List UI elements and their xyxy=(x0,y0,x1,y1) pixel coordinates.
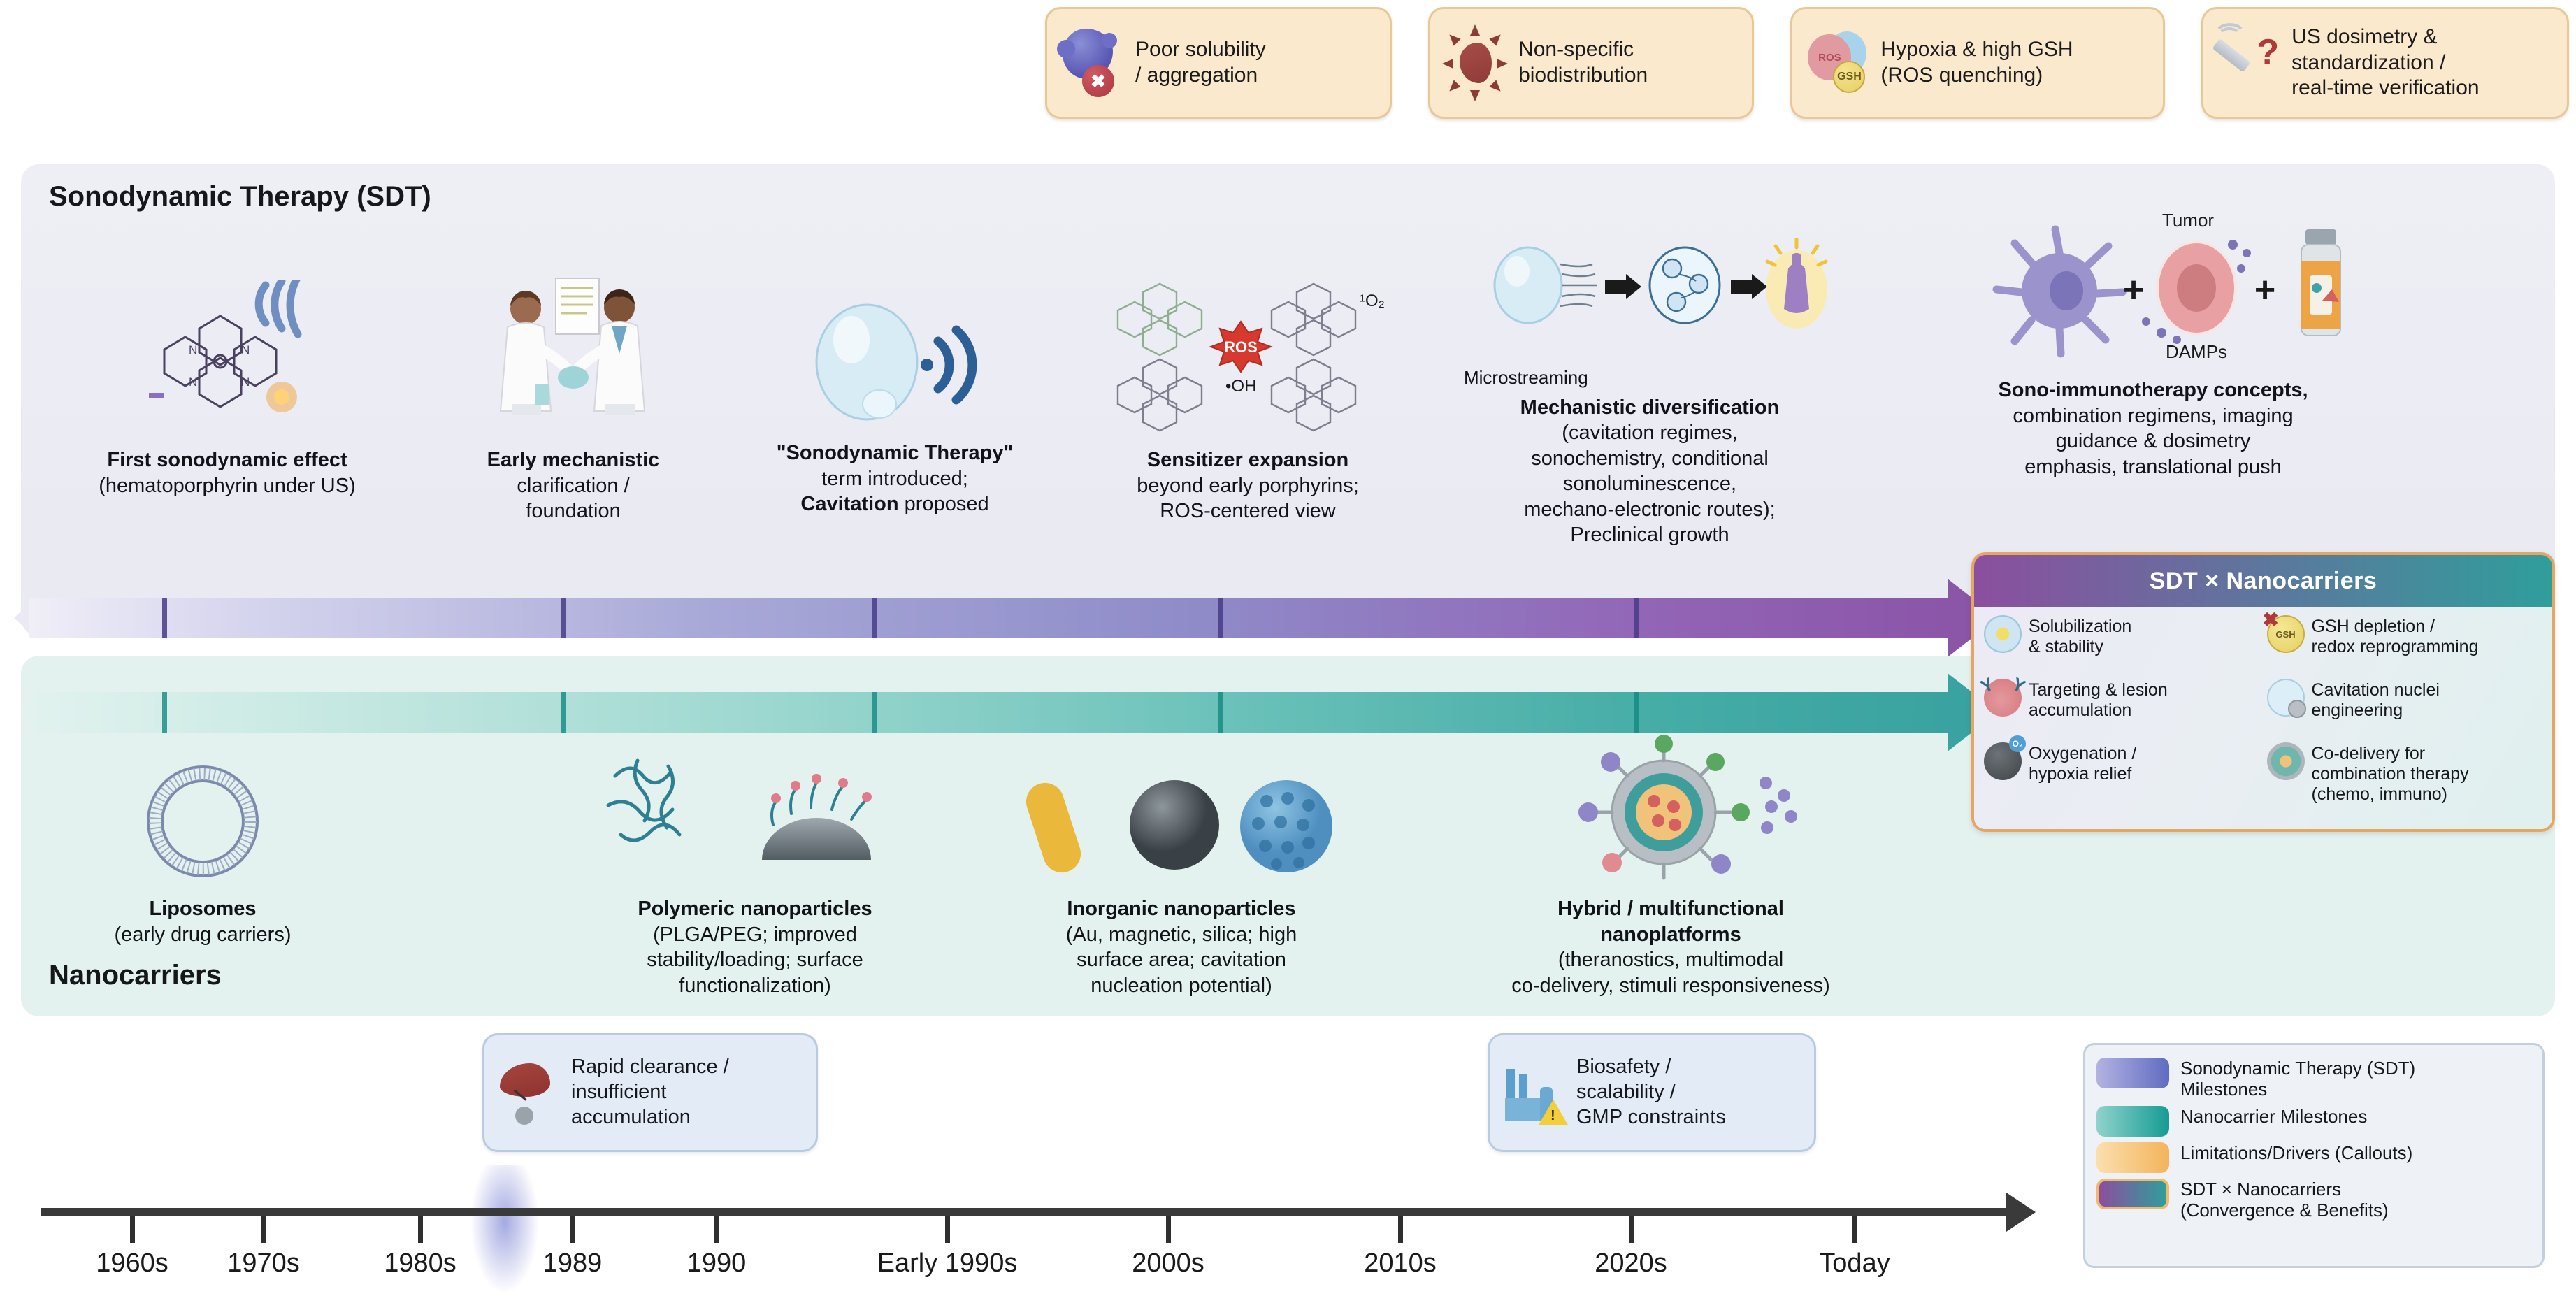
axis-label: 1980s xyxy=(384,1248,456,1279)
legend-swatch-limitations xyxy=(2096,1142,2169,1173)
legend-box: Sonodynamic Therapy (SDT)Milestones Nano… xyxy=(2083,1043,2545,1268)
factory-warning-icon xyxy=(1502,1059,1567,1126)
sdt-milestone-annotation: Microstreaming Mechanistic diversificati… xyxy=(1440,366,1859,548)
sdt-milestone-3[interactable]: "Sonodynamic Therapy"term introduced; Ca… xyxy=(727,280,1063,517)
axis-label: 2000s xyxy=(1132,1248,1204,1279)
axis-tick xyxy=(1629,1216,1634,1243)
convergence-title: SDT × Nanocarriers xyxy=(1974,555,2552,607)
oxygenation-icon: O₂ xyxy=(1984,742,2022,780)
svg-text:+: + xyxy=(2123,270,2144,310)
convergence-benefits: Solubilization& stability GSH ✖ GSH depl… xyxy=(1974,607,2552,829)
callout-label: Rapid clearance /insufficientaccumulatio… xyxy=(571,1055,729,1130)
liposome-icon xyxy=(126,755,280,888)
svg-text:+: + xyxy=(2254,270,2275,310)
legend-swatch-sdt xyxy=(2096,1058,2169,1088)
benefit-label: GSH depletion /redox reprogramming xyxy=(2312,615,2479,658)
callout-us-dosimetry[interactable]: ? US dosimetry &standardization /real-ti… xyxy=(2201,7,2569,119)
aggregation-icon: ✖ xyxy=(1058,24,1125,101)
callout-nonspecific-biodistribution[interactable]: Non-specificbiodistribution xyxy=(1428,7,1754,119)
sdt-timeline-bar xyxy=(29,598,1952,638)
axis-tick xyxy=(570,1216,575,1243)
sdt-milestone-caption: Early mechanisticclarification /foundati… xyxy=(433,447,713,524)
axis-tick xyxy=(1166,1216,1171,1243)
immune-cell-tumor-vial-icon: Tumor + DAMPs xyxy=(1936,210,2370,370)
solubilization-icon xyxy=(1984,615,2022,653)
callout-label: Non-specificbiodistribution xyxy=(1518,37,1648,88)
legend-item-convergence: SDT × Nanocarriers(Convergence & Benefit… xyxy=(2096,1179,2531,1221)
timeline-axis xyxy=(41,1208,2008,1216)
cavitation-nuclei-icon xyxy=(2267,679,2305,717)
nano-milestone-1[interactable]: Liposomes(early drug carriers) xyxy=(42,755,364,947)
figure-canvas: ✖ Poor solubility/ aggregation Non-speci… xyxy=(0,0,2576,1303)
callout-biosafety[interactable]: Biosafety /scalability /GMP constraints xyxy=(1488,1033,1816,1152)
benefit-oxygenation[interactable]: O₂ Oxygenation /hypoxia relief xyxy=(1984,742,2260,822)
sdt-milestone-caption: Sensitizer expansionbeyond early porphyr… xyxy=(1080,447,1416,524)
hypoxia-gsh-icon: ROSGSH xyxy=(1804,24,1871,101)
callout-label: Biosafety /scalability /GMP constraints xyxy=(1576,1055,1726,1130)
co-delivery-icon xyxy=(2267,742,2305,780)
nanocarrier-timeline-bar xyxy=(29,692,1952,733)
inorganic-nanoparticle-icon xyxy=(1014,741,1349,888)
svg-text:N: N xyxy=(241,375,250,389)
legend-item-sdt: Sonodynamic Therapy (SDT)Milestones xyxy=(2096,1058,2531,1100)
benefit-solubilization[interactable]: Solubilization& stability xyxy=(1984,615,2260,675)
polymeric-nanoparticle-icon xyxy=(587,741,923,888)
svg-text:¹O₂: ¹O₂ xyxy=(1360,291,1385,310)
axis-tick xyxy=(261,1216,266,1243)
researchers-handshake-icon xyxy=(468,273,678,440)
nano-milestone-4[interactable]: Hybrid / multifunctionalnanoplatforms(th… xyxy=(1412,734,1929,998)
microstreaming-sonoluminescence-icon xyxy=(1468,238,1832,363)
nano-milestone-3[interactable]: Inorganic nanoparticles(Au, magnetic, si… xyxy=(993,741,1370,998)
sdt-milestone-caption: "Sonodynamic Therapy"term introduced; Ca… xyxy=(727,440,1063,517)
callout-poor-solubility[interactable]: ✖ Poor solubility/ aggregation xyxy=(1045,7,1392,119)
callout-hypoxia-gsh[interactable]: ROSGSH Hypoxia & high GSH(ROS quenching) xyxy=(1790,7,2165,119)
benefit-targeting[interactable]: Targeting & lesionaccumulation xyxy=(1984,679,2260,738)
hybrid-nanoplatform-icon xyxy=(1524,734,1818,888)
svg-text:N: N xyxy=(189,375,197,389)
nano-milestone-2[interactable]: Polymeric nanoparticles(PLGA/PEG; improv… xyxy=(559,741,951,998)
sdt-milestone-caption: First sonodynamic effect(hematoporphyrin… xyxy=(42,447,412,498)
legend-label: SDT × Nanocarriers(Convergence & Benefit… xyxy=(2180,1179,2389,1221)
nano-milestone-caption: Hybrid / multifunctionalnanoplatforms(th… xyxy=(1412,896,1929,998)
porphyrins-ros-icon: ROS ¹O₂ •OH xyxy=(1101,280,1395,440)
bubble-ultrasound-icon xyxy=(790,280,1000,433)
axis-label: 2020s xyxy=(1595,1248,1667,1279)
callout-label: Hypoxia & high GSH(ROS quenching) xyxy=(1880,37,2073,88)
benefit-cavitation-nuclei[interactable]: Cavitation nucleiengineering xyxy=(2267,679,2543,738)
ultrasound-probe-question-icon: ? xyxy=(2215,24,2282,101)
sdt-milestone-1[interactable]: N N N N First sonodynamic effect(hematop… xyxy=(42,280,412,498)
legend-label: Nanocarrier Milestones xyxy=(2180,1106,2367,1128)
axis-label: 1970s xyxy=(227,1248,300,1279)
svg-text:DAMPs: DAMPs xyxy=(2166,341,2227,362)
nano-milestone-caption: Inorganic nanoparticles(Au, magnetic, si… xyxy=(993,896,1370,998)
axis-label: 1960s xyxy=(96,1248,168,1279)
sdt-panel-title: Sonodynamic Therapy (SDT) xyxy=(49,181,431,213)
gsh-depletion-icon: GSH ✖ xyxy=(2267,615,2305,653)
sdt-milestone-caption: Sono-immunotherapy concepts,combination … xyxy=(1887,377,2419,480)
svg-text:•OH: •OH xyxy=(1225,377,1256,396)
legend-swatch-convergence xyxy=(2096,1179,2169,1209)
top-callouts-row: ✖ Poor solubility/ aggregation Non-speci… xyxy=(1045,7,2569,129)
benefit-label: Targeting & lesionaccumulation xyxy=(2029,679,2168,721)
axis-tick xyxy=(1852,1216,1857,1243)
benefit-label: Oxygenation /hypoxia relief xyxy=(2029,742,2136,785)
axis-label: 2010s xyxy=(1364,1248,1437,1279)
svg-text:N: N xyxy=(189,343,197,357)
sdt-milestone-5[interactable]: Microstreaming Mechanistic diversificati… xyxy=(1440,238,1859,548)
convergence-box[interactable]: SDT × Nanocarriers Solubilization& stabi… xyxy=(1971,552,2555,832)
nano-milestone-caption: Liposomes(early drug carriers) xyxy=(42,896,364,947)
svg-text:Tumor: Tumor xyxy=(2162,210,2214,231)
targeting-icon xyxy=(1984,679,2022,717)
legend-label: Sonodynamic Therapy (SDT)Milestones xyxy=(2180,1058,2415,1100)
axis-tick xyxy=(1398,1216,1403,1243)
nanocarriers-panel-title: Nanocarriers xyxy=(49,960,222,991)
porphyrin-ultrasound-icon: N N N N xyxy=(122,280,332,440)
legend-item-nanocarrier: Nanocarrier Milestones xyxy=(2096,1106,2531,1137)
axis-label: Early 1990s xyxy=(877,1248,1018,1279)
axis-tick xyxy=(418,1216,423,1243)
legend-swatch-nanocarrier xyxy=(2096,1106,2169,1137)
axis-label: 1990 xyxy=(687,1248,747,1279)
legend-item-limitations: Limitations/Drivers (Callouts) xyxy=(2096,1142,2531,1173)
callout-rapid-clearance[interactable]: Rapid clearance /insufficientaccumulatio… xyxy=(482,1033,818,1152)
benefit-label: Co-delivery forcombination therapy(chemo… xyxy=(2312,742,2469,805)
callout-label: US dosimetry &standardization /real-time… xyxy=(2291,24,2479,101)
benefit-label: Solubilization& stability xyxy=(2029,615,2131,658)
timeline-axis-arrow xyxy=(2006,1193,2036,1232)
axis-label: 1989 xyxy=(543,1248,603,1279)
nano-milestone-caption: Polymeric nanoparticles(PLGA/PEG; improv… xyxy=(559,896,951,998)
liver-clearance-icon xyxy=(497,1059,561,1126)
legend-label: Limitations/Drivers (Callouts) xyxy=(2180,1142,2412,1164)
axis-highlight-1989 xyxy=(471,1165,538,1292)
svg-text:ROS: ROS xyxy=(1224,338,1258,356)
axis-tick xyxy=(714,1216,719,1243)
sdt-milestone-6[interactable]: Tumor + DAMPs xyxy=(1887,210,2419,480)
benefit-gsh-depletion[interactable]: GSH ✖ GSH depletion /redox reprogramming xyxy=(2267,615,2543,675)
axis-tick xyxy=(945,1216,950,1243)
benefit-co-delivery[interactable]: Co-delivery forcombination therapy(chemo… xyxy=(2267,742,2543,822)
biodistribution-icon xyxy=(1441,24,1509,101)
svg-text:N: N xyxy=(241,343,250,357)
axis-tick xyxy=(130,1216,135,1243)
benefit-label: Cavitation nucleiengineering xyxy=(2312,679,2440,721)
callout-label: Poor solubility/ aggregation xyxy=(1135,37,1266,88)
sdt-milestone-2[interactable]: Early mechanisticclarification /foundati… xyxy=(433,273,713,524)
sdt-milestone-4[interactable]: ROS ¹O₂ •OH Sensitizer expansionbeyond e… xyxy=(1080,280,1416,524)
axis-label: Today xyxy=(1819,1248,1890,1279)
